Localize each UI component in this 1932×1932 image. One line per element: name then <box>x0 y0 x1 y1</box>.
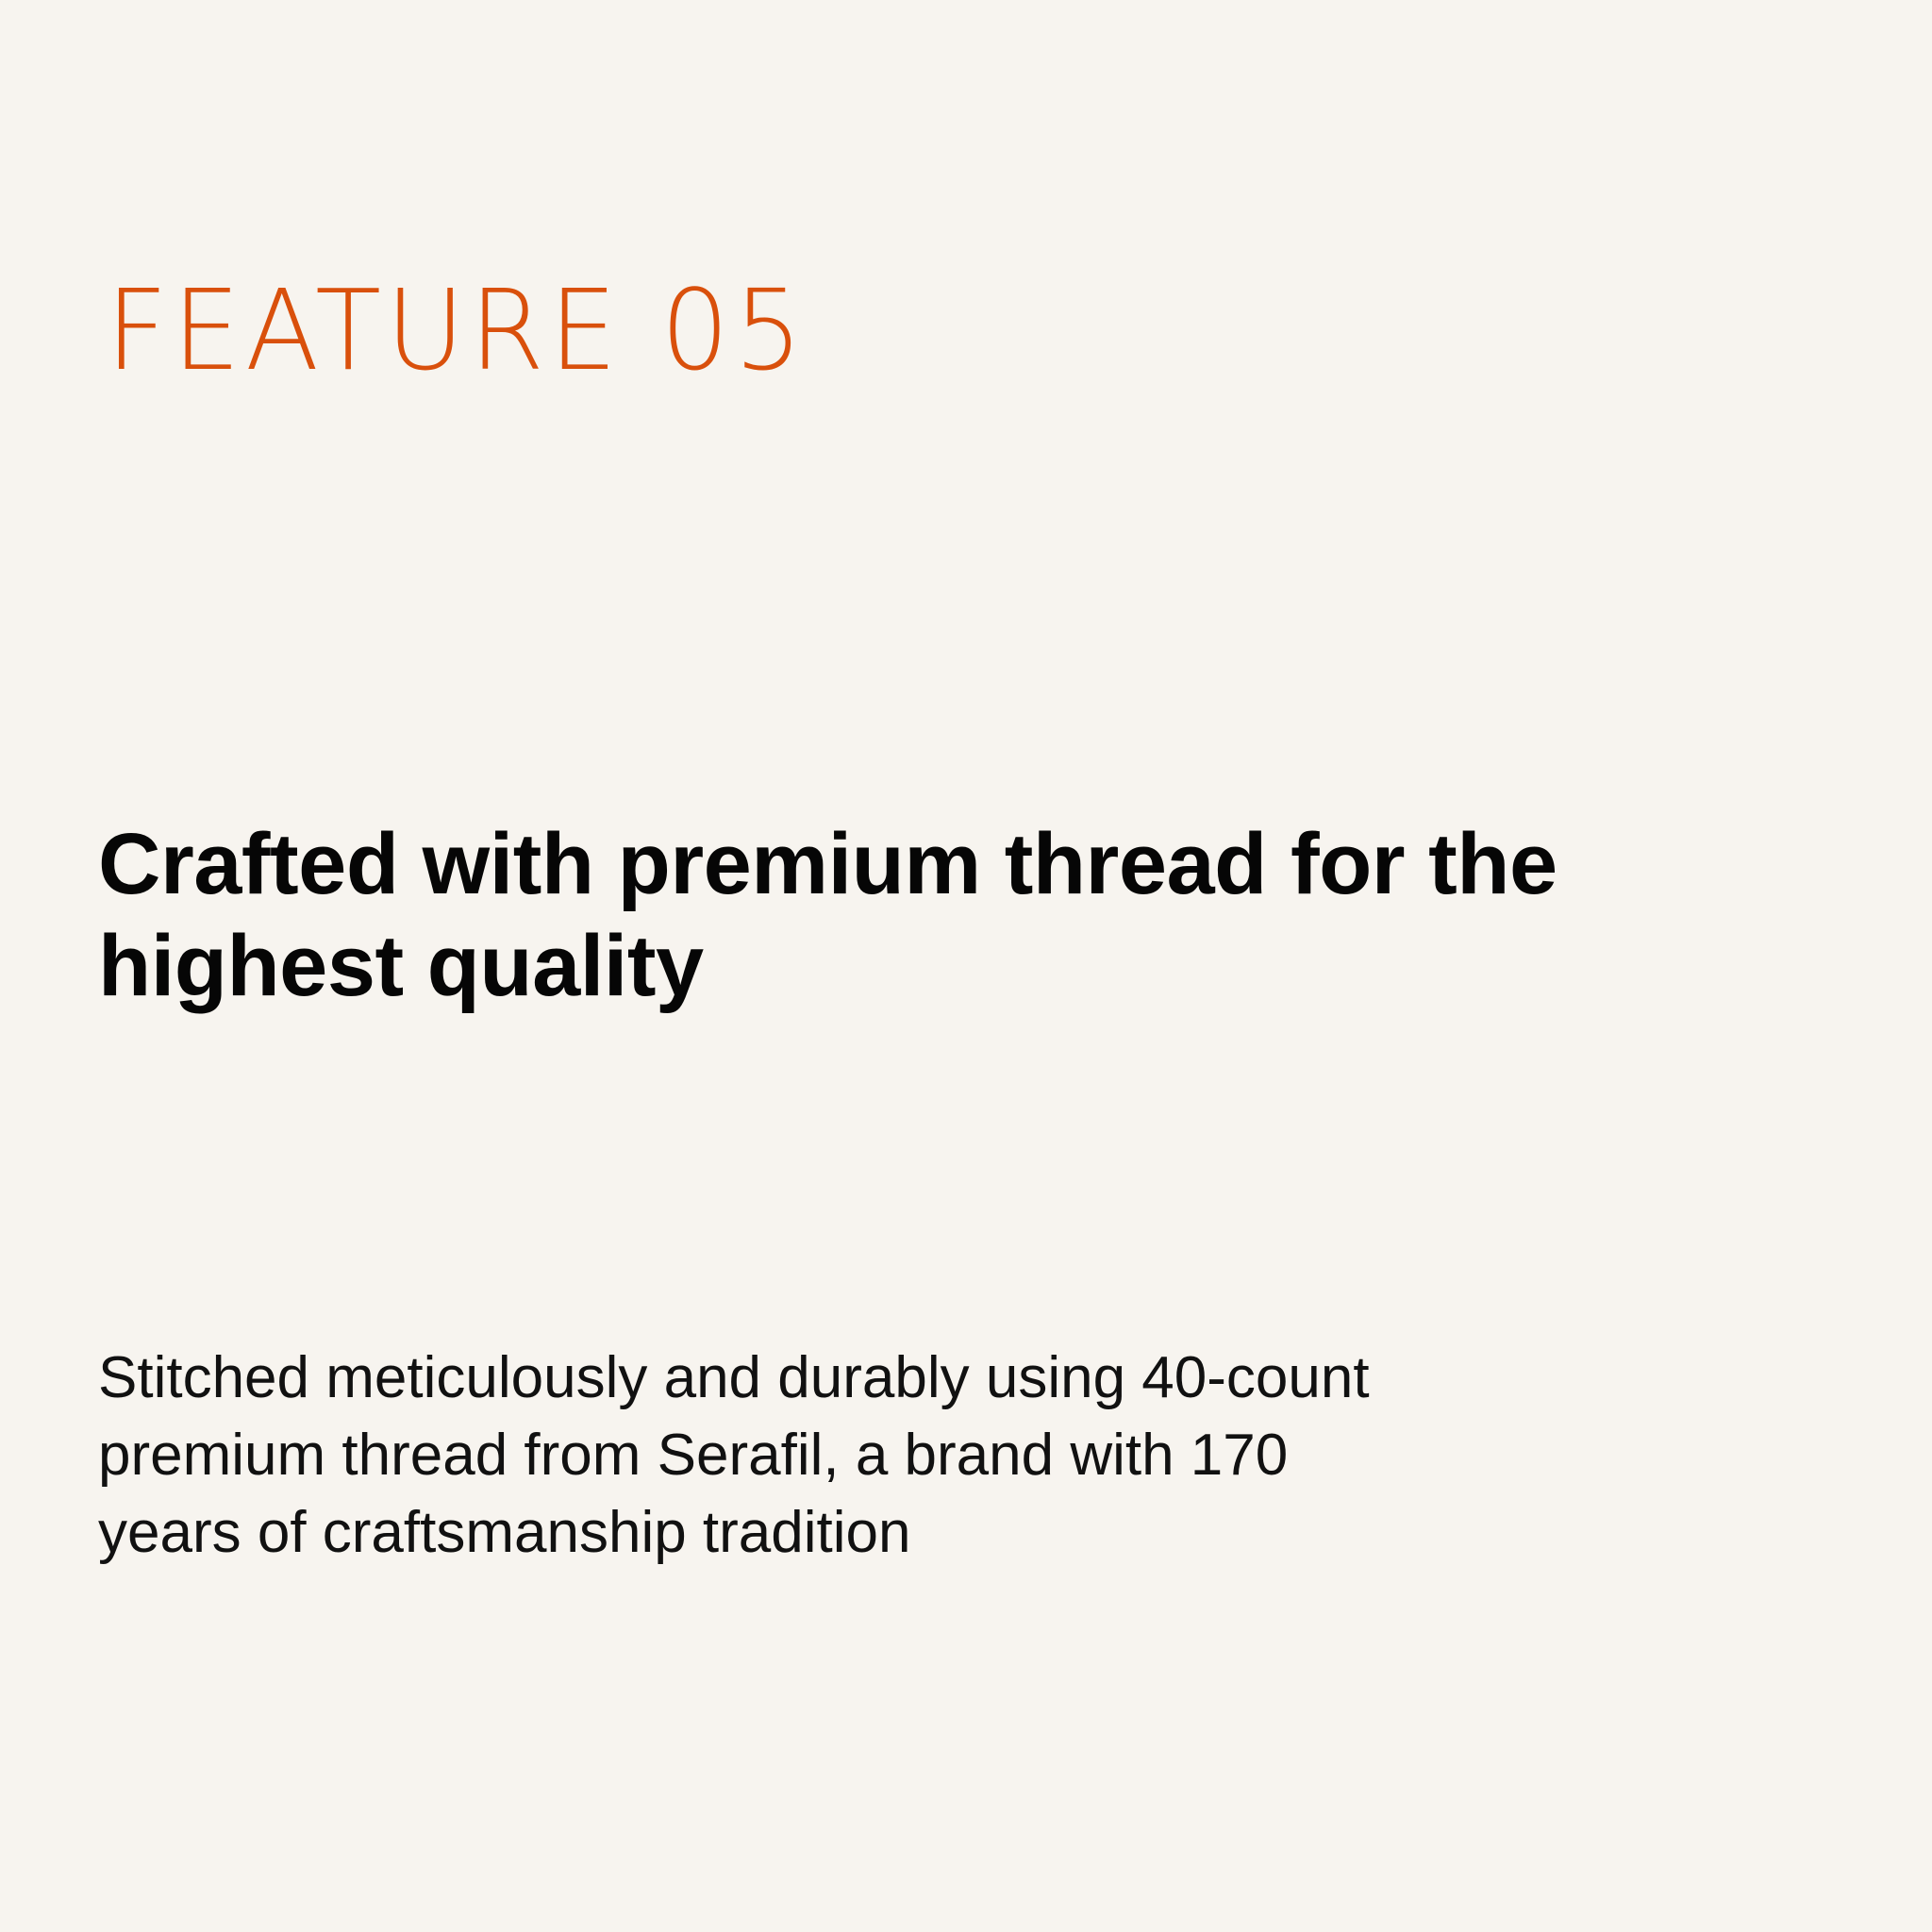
feature-description: Stitched meticulously and durably using … <box>98 1340 1824 1572</box>
headline-line-1: Crafted with premium thread for the <box>98 816 1557 912</box>
body-line-1: Stitched meticulously and durably using … <box>98 1340 1824 1417</box>
body-line-2: premium thread from Serafil, a brand wit… <box>98 1417 1824 1494</box>
feature-slide: FEATURE 05 Crafted with premium thread f… <box>0 0 1932 1932</box>
body-line-3: years of craftsmanship tradition <box>98 1494 1824 1572</box>
headline-line-2: highest quality <box>98 918 704 1014</box>
page-title: Crafted with premium thread for thehighe… <box>98 813 1702 1017</box>
feature-eyebrow-label: FEATURE 05 <box>106 272 808 390</box>
